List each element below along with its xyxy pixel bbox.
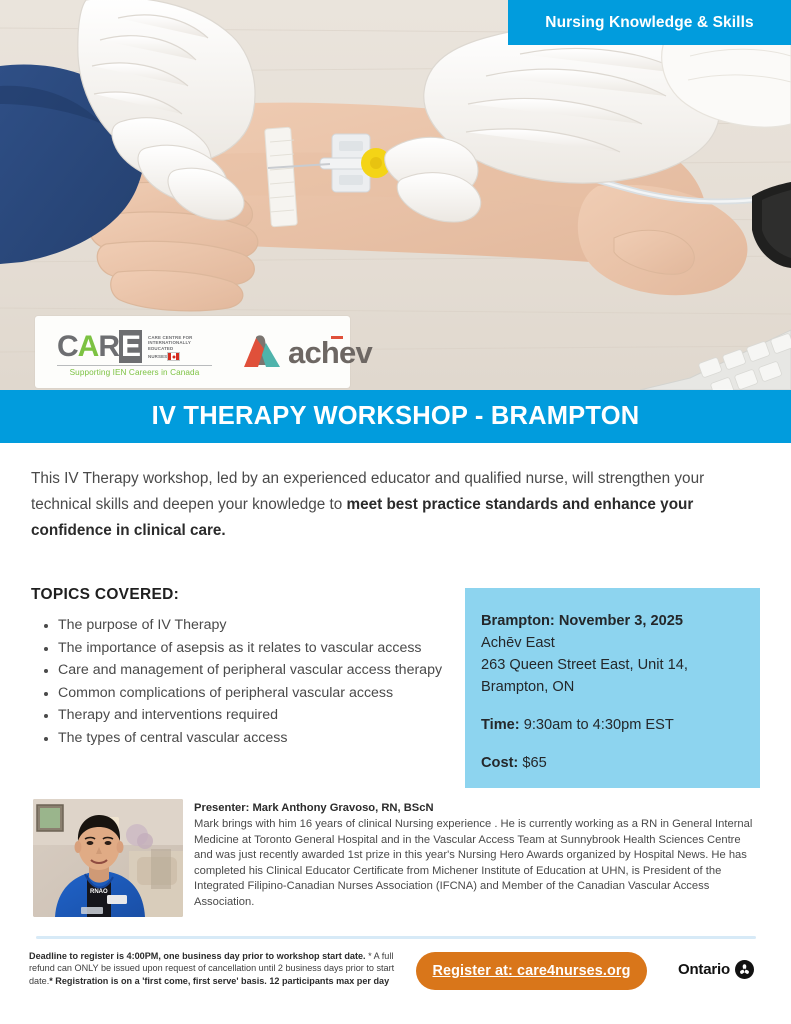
svg-text:RNAO: RNAO <box>90 889 108 895</box>
presenter-bio: Mark brings with him 16 years of clinica… <box>194 817 762 911</box>
care-letter-r: R <box>98 330 119 363</box>
presenter-details: Presenter: Mark Anthony Gravoso, RN, BSc… <box>194 801 762 911</box>
title-banner: IV THERAPY WORKSHOP - BRAMPTON <box>0 390 791 443</box>
achev-logo: achev <box>242 335 372 369</box>
care-letter-a: A <box>78 330 99 363</box>
care-letter-c: C <box>57 330 78 363</box>
policy-bold-1: Deadline to register is 4:00PM, one busi… <box>29 951 366 961</box>
achev-wordmark: achev <box>288 337 372 368</box>
list-item: Care and management of peripheral vascul… <box>58 660 478 682</box>
page-title: IV THERAPY WORKSHOP - BRAMPTON <box>152 402 640 431</box>
care-letter-e: E <box>119 330 142 363</box>
list-item: The importance of asepsis as it relates … <box>58 638 478 660</box>
event-details-box: Brampton: November 3, 2025 Achēv East 26… <box>465 588 760 788</box>
event-venue: Achēv East <box>481 632 760 654</box>
register-button-label: Register at: care4nurses.org <box>433 963 631 979</box>
registration-policy-note: Deadline to register is 4:00PM, one busi… <box>29 950 401 987</box>
register-button[interactable]: Register at: care4nurses.org <box>416 952 647 990</box>
event-cost-label: Cost: <box>481 755 518 771</box>
care-sub-line-3: EDUCATED <box>148 346 192 352</box>
event-cost: Cost: $65 <box>481 752 760 774</box>
list-item: Therapy and interventions required <box>58 705 478 727</box>
intro-paragraph: This IV Therapy workshop, led by an expe… <box>31 466 759 544</box>
footer-divider <box>36 936 756 939</box>
achev-macron-icon <box>331 336 343 339</box>
event-time: Time: 9:30am to 4:30pm EST <box>481 714 760 736</box>
event-address-line-1: 263 Queen Street East, Unit 14, <box>481 654 760 676</box>
care-subtitle: CARE CENTRE for INTERNATIONALLY EDUCATED… <box>148 335 192 361</box>
event-time-value: 9:30am to 4:30pm EST <box>520 717 674 733</box>
event-address-line-2: Brampton, ON <box>481 676 760 698</box>
flyer-page: Nursing Knowledge & Skills CARE CARE CEN… <box>0 0 791 1024</box>
ontario-logo: Ontario <box>678 960 754 979</box>
event-cost-value: $65 <box>518 755 546 771</box>
ribbon-label: Nursing Knowledge & Skills <box>545 14 753 32</box>
event-city-date: Brampton: November 3, 2025 <box>481 610 760 632</box>
care-sub-line-4: NURSES <box>148 354 167 360</box>
ontario-trillium-icon <box>735 960 754 979</box>
header-ribbon: Nursing Knowledge & Skills <box>508 0 791 45</box>
policy-bold-2: * Registration is on a 'first come, firs… <box>49 976 389 986</box>
care-logo: CARE CARE CENTRE for INTERNATIONALLY EDU… <box>57 328 212 377</box>
care-tagline: Supporting IEN Careers in Canada <box>57 365 212 377</box>
list-item: The types of central vascular access <box>58 728 478 750</box>
canada-flag-icon <box>167 352 180 361</box>
ontario-label: Ontario <box>678 961 730 978</box>
logo-card: CARE CARE CENTRE for INTERNATIONALLY EDU… <box>35 316 350 388</box>
presenter-name: Presenter: Mark Anthony Gravoso, RN, BSc… <box>194 801 762 816</box>
list-item: The purpose of IV Therapy <box>58 615 478 637</box>
achev-mark-icon <box>242 335 282 369</box>
topics-list: The purpose of IV Therapy The importance… <box>36 615 478 750</box>
list-item: Common complications of peripheral vascu… <box>58 683 478 705</box>
presenter-photo: RNAO <box>33 799 183 917</box>
achev-text: achev <box>288 335 372 370</box>
topics-heading: TOPICS COVERED: <box>31 586 179 604</box>
event-time-label: Time: <box>481 717 520 733</box>
